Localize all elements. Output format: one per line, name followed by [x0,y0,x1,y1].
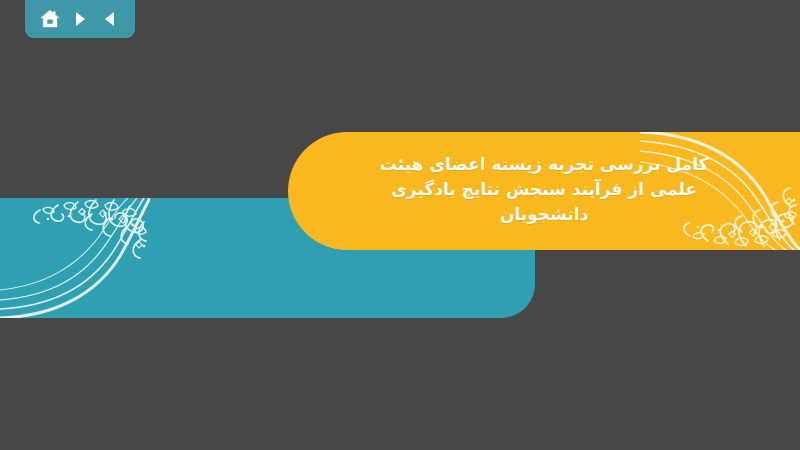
back-button[interactable] [98,7,122,31]
back-arrow-icon [100,9,120,29]
home-button[interactable] [38,7,62,31]
arabesque-ornament-teal [0,198,150,318]
title-line-1: کامل بررسی تجربه زیسته اعضای هیئت [380,153,709,178]
navigation-bar [25,0,135,38]
title-panel: کامل بررسی تجربه زیسته اعضای هیئت علمی ا… [288,132,800,250]
title-line-2: علمی از فرآیند سنجش نتایج یادگیری [391,178,697,203]
title-line-3: دانشجویان [500,203,588,228]
forward-arrow-icon [70,9,90,29]
slide-title: کامل بررسی تجربه زیسته اعضای هیئت علمی ا… [288,132,800,250]
slide-canvas: کامل بررسی تجربه زیسته اعضای هیئت علمی ا… [0,0,800,450]
home-icon [39,8,61,30]
forward-button[interactable] [68,7,92,31]
